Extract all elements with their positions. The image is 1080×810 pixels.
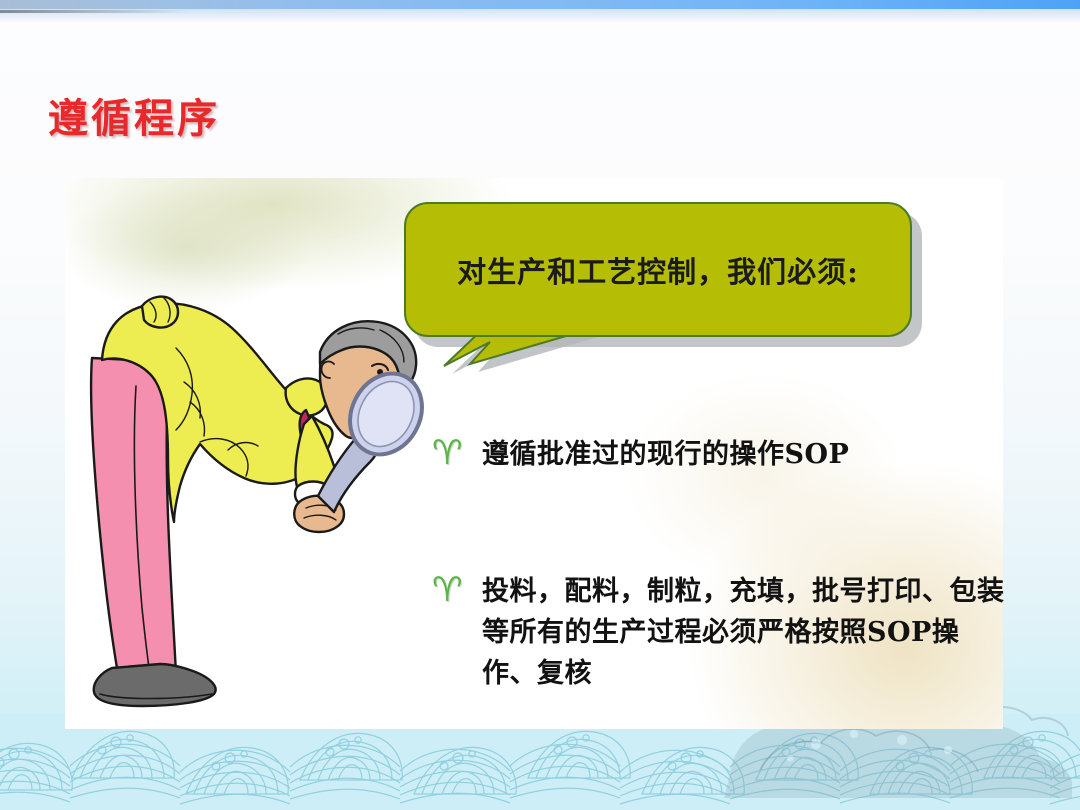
aries-bullet-icon: ♈ — [432, 571, 482, 609]
illustration-bent-over-man-with-magnifying-glass — [80, 290, 450, 720]
bullet-item-2: ♈ 投料，配料，制粒，充填，批号打印、包装等所有的生产过程必须严格按照SOP操作… — [432, 571, 1012, 694]
aries-bullet-icon: ♈ — [432, 434, 482, 472]
speech-bubble-body: 对生产和工艺控制，我们必须: — [404, 202, 912, 337]
bullet-list: ♈ 遵循批准过的现行的操作SOP ♈ 投料，配料，制粒，充填，批号打印、包装等所… — [432, 434, 1012, 694]
speech-bubble: 对生产和工艺控制，我们必须: — [404, 202, 924, 382]
bullet-item-1-text: 遵循批准过的现行的操作SOP — [482, 434, 849, 475]
bullet-item-1: ♈ 遵循批准过的现行的操作SOP — [432, 434, 1012, 475]
top-accent-strip — [0, 0, 1080, 9]
top-accent-rule — [0, 10, 190, 13]
page-title: 遵循程序 — [48, 86, 220, 144]
bullet-item-2-text: 投料，配料，制粒，充填，批号打印、包装等所有的生产过程必须严格按照SOP操作、复… — [482, 571, 1012, 694]
speech-bubble-text: 对生产和工艺控制，我们必须: — [457, 249, 859, 291]
slide: 遵循程序 — [0, 0, 1080, 810]
